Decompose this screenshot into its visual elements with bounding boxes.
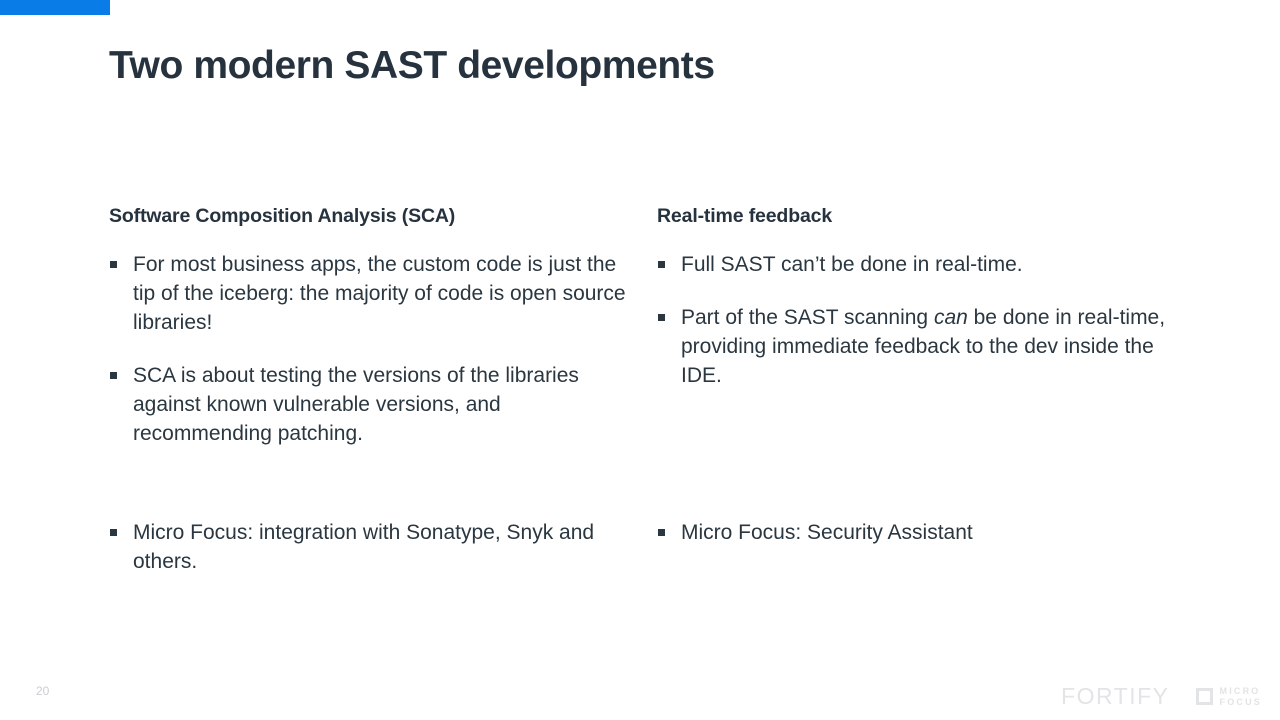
microfocus-line-2: FOCUS [1220,698,1263,707]
column-heading-sca: Software Composition Analysis (SCA) [109,205,629,228]
bullet-list-realtime-footer: Micro Focus: Security Assistant [657,518,1167,547]
column-realtime: Real-time feedback Full SAST can’t be do… [657,205,1167,547]
bullet-text: Micro Focus: Security Assistant [681,518,1167,547]
fortify-wordmark: FORTIFY [1061,685,1169,708]
bullet-text-before: Part of the SAST scanning [681,306,934,329]
column-sca: Software Composition Analysis (SCA) For … [109,205,629,576]
list-item: Full SAST can’t be done in real-time. [657,250,1167,279]
list-item: Micro Focus: Security Assistant [657,518,1167,547]
square-bullet-icon [110,372,117,379]
bullet-text: For most business apps, the custom code … [133,250,629,337]
microfocus-wordmark: MICRO FOCUS [1220,687,1263,707]
bullet-text-emphasis: can [934,306,968,329]
column-spacer [109,448,629,518]
list-item: Micro Focus: integration with Sonatype, … [109,518,629,576]
bullet-list-sca-footer: Micro Focus: integration with Sonatype, … [109,518,629,576]
list-item: For most business apps, the custom code … [109,250,629,337]
slide: Two modern SAST developments Software Co… [0,0,1280,720]
bullet-text: Full SAST can’t be done in real-time. [681,250,1167,279]
square-bullet-icon [110,529,117,536]
square-bullet-icon [110,261,117,268]
microfocus-logo: MICRO FOCUS [1196,687,1263,707]
square-bullet-icon [658,261,665,268]
page-number: 20 [36,684,49,698]
microfocus-line-1: MICRO [1220,687,1263,696]
bullet-text: SCA is about testing the versions of the… [133,361,629,448]
bullet-text: Micro Focus: integration with Sonatype, … [133,518,629,576]
page-title: Two modern SAST developments [109,44,1159,89]
bullet-list-sca: For most business apps, the custom code … [109,250,629,448]
column-spacer [657,390,1167,518]
bullet-text-rich: Part of the SAST scanning can be done in… [681,303,1167,390]
content-columns: Software Composition Analysis (SCA) For … [0,205,1280,645]
square-bullet-icon [658,529,665,536]
bullet-list-realtime: Full SAST can’t be done in real-time. Pa… [657,250,1167,390]
footer-branding: FORTIFY MICRO FOCUS [1061,685,1262,708]
square-outline-icon [1196,688,1213,705]
square-bullet-icon [658,314,665,321]
accent-bar [0,0,110,15]
list-item: SCA is about testing the versions of the… [109,361,629,448]
list-item: Part of the SAST scanning can be done in… [657,303,1167,390]
column-heading-realtime: Real-time feedback [657,205,1167,228]
